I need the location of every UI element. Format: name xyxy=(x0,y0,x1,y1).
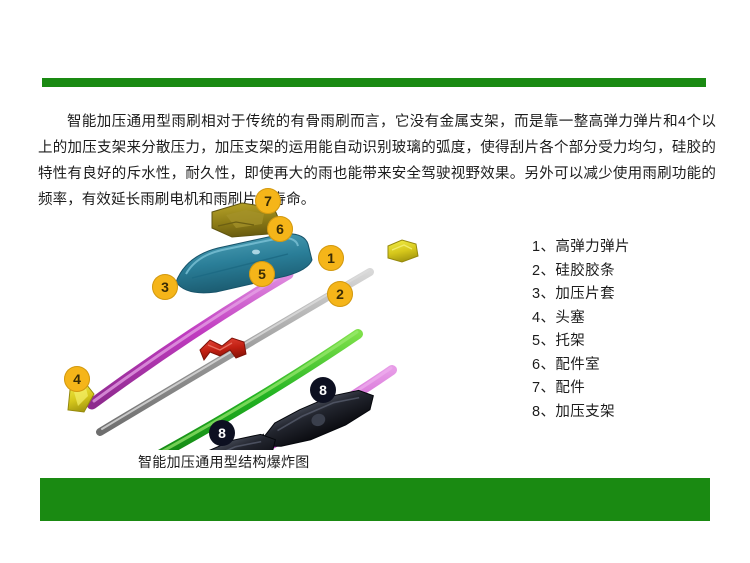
legend-item-7-number: 7、 xyxy=(532,380,555,396)
callout-badge-4-label: 4 xyxy=(73,372,81,386)
callout-badge-6: 6 xyxy=(267,216,293,242)
legend-item-2-number: 2、 xyxy=(532,263,555,279)
callout-badge-8-lower: 8 xyxy=(209,420,235,446)
callout-badge-3: 3 xyxy=(152,274,178,300)
legend-item-5: 5、托架 xyxy=(532,330,712,354)
legend-item-5-label: 托架 xyxy=(555,333,585,349)
page-root: 智能加压通用型雨刷相对于传统的有骨雨刷而言，它没有金属支架，而是靠一整高弹力弹片… xyxy=(0,0,750,563)
bottom-green-bar xyxy=(40,478,710,521)
legend-item-7: 7、配件 xyxy=(532,377,712,401)
legend-item-6: 6、配件室 xyxy=(532,354,712,378)
legend-item-8: 8、加压支架 xyxy=(532,401,712,425)
callout-badge-7: 7 xyxy=(255,188,281,214)
callout-badge-2: 2 xyxy=(327,281,353,307)
legend-item-4-number: 4、 xyxy=(532,310,555,326)
legend-item-3: 3、加压片套 xyxy=(532,283,712,307)
legend-item-2-label: 硅胶胶条 xyxy=(555,263,615,279)
callout-badge-8-lower-label: 8 xyxy=(218,426,226,440)
callout-badge-6-label: 6 xyxy=(276,222,284,236)
exploded-view-diagram xyxy=(40,182,470,450)
legend-item-1: 1、高弹力弹片 xyxy=(532,236,712,260)
callout-badge-1: 1 xyxy=(318,245,344,271)
legend-item-4-label: 头塞 xyxy=(555,310,585,326)
legend-item-7-label: 配件 xyxy=(555,380,585,396)
callout-badge-4: 4 xyxy=(64,366,90,392)
callout-badge-5: 5 xyxy=(249,261,275,287)
callout-badge-7-label: 7 xyxy=(264,194,272,208)
legend-item-1-number: 1、 xyxy=(532,239,555,255)
legend-item-3-label: 加压片套 xyxy=(555,286,615,302)
figure-caption: 智能加压通用型结构爆炸图 xyxy=(138,452,310,472)
legend-item-4: 4、头塞 xyxy=(532,307,712,331)
callout-badge-8-upper: 8 xyxy=(310,377,336,403)
callout-badge-2-label: 2 xyxy=(336,287,344,301)
legend-item-8-number: 8、 xyxy=(532,404,555,420)
legend-item-5-number: 5、 xyxy=(532,333,555,349)
legend-item-6-label: 配件室 xyxy=(555,357,600,373)
legend-item-1-label: 高弹力弹片 xyxy=(555,239,630,255)
parts-legend-list: 1、高弹力弹片 2、硅胶胶条 3、加压片套 4、头塞 5、托架 6、配件室 7、… xyxy=(532,236,712,424)
part-housing-teal xyxy=(176,234,312,293)
legend-item-6-number: 6、 xyxy=(532,357,555,373)
top-green-rule xyxy=(42,78,706,87)
legend-item-8-label: 加压支架 xyxy=(555,404,615,420)
legend-item-2: 2、硅胶胶条 xyxy=(532,260,712,284)
callout-badge-8-upper-label: 8 xyxy=(319,383,327,397)
callout-badge-5-label: 5 xyxy=(258,267,266,281)
callout-badge-1-label: 1 xyxy=(327,251,335,265)
part-end-plug-yellow-right xyxy=(388,240,418,262)
legend-item-3-number: 3、 xyxy=(532,286,555,302)
callout-badge-3-label: 3 xyxy=(161,280,169,294)
